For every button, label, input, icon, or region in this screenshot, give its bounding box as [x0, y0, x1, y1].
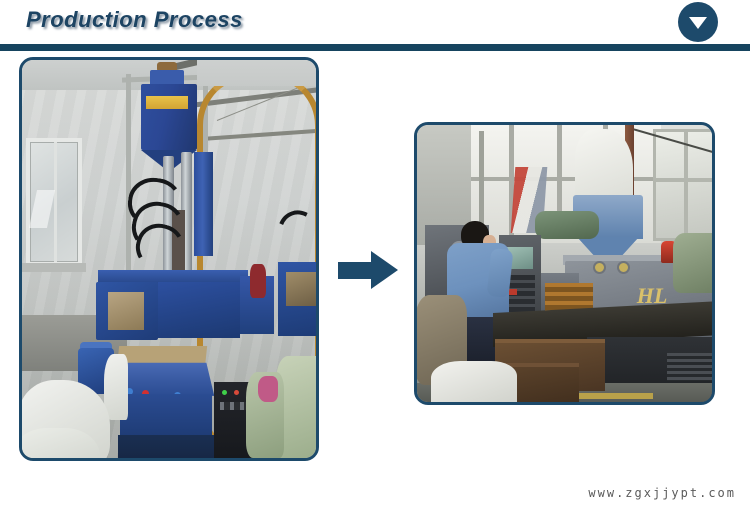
indicator-light [234, 390, 239, 395]
machine-frame-post [126, 74, 131, 288]
green-woven-bag [673, 233, 712, 293]
tie-bars [545, 283, 593, 311]
machine-vents [667, 353, 712, 381]
pink-cloth [258, 376, 278, 402]
mold-housing [158, 282, 240, 338]
page-title: Production Process [26, 7, 243, 33]
blue-hopper [141, 84, 197, 150]
photo-left-image [22, 60, 316, 458]
site-watermark: www.zgxjjypt.com [588, 486, 736, 500]
chevron-down-badge[interactable] [678, 2, 718, 42]
header-divider [0, 44, 750, 51]
machine-gauge [593, 261, 606, 274]
page-header: Production Process [0, 0, 750, 50]
wall-pipe [479, 131, 484, 231]
arrow-shaft [338, 262, 372, 279]
second-machine-window [286, 272, 316, 306]
machine-base-dark [118, 435, 228, 458]
copper-tube-mask [197, 60, 316, 86]
white-sack [104, 354, 128, 420]
photo-right-frame[interactable]: HL 海科塑机 [414, 122, 715, 405]
green-mold-part [535, 211, 599, 239]
hopper-yellow-label [146, 96, 188, 109]
white-sack [431, 361, 517, 402]
photo-right-image: HL 海科塑机 [417, 125, 712, 402]
window-sill [22, 263, 86, 272]
arrow-head [371, 251, 398, 289]
arrow-right-icon [338, 251, 398, 289]
chevron-down-icon [689, 17, 707, 29]
workshop-window [26, 138, 82, 266]
photo-left-frame[interactable] [19, 57, 319, 461]
workshop-window [653, 129, 712, 241]
machine-gauge [617, 261, 630, 274]
blue-column [194, 152, 213, 256]
mold-window [108, 292, 144, 330]
production-process-page: Production Process [0, 0, 750, 510]
red-cloth [250, 264, 266, 298]
indicator-light [222, 390, 227, 395]
